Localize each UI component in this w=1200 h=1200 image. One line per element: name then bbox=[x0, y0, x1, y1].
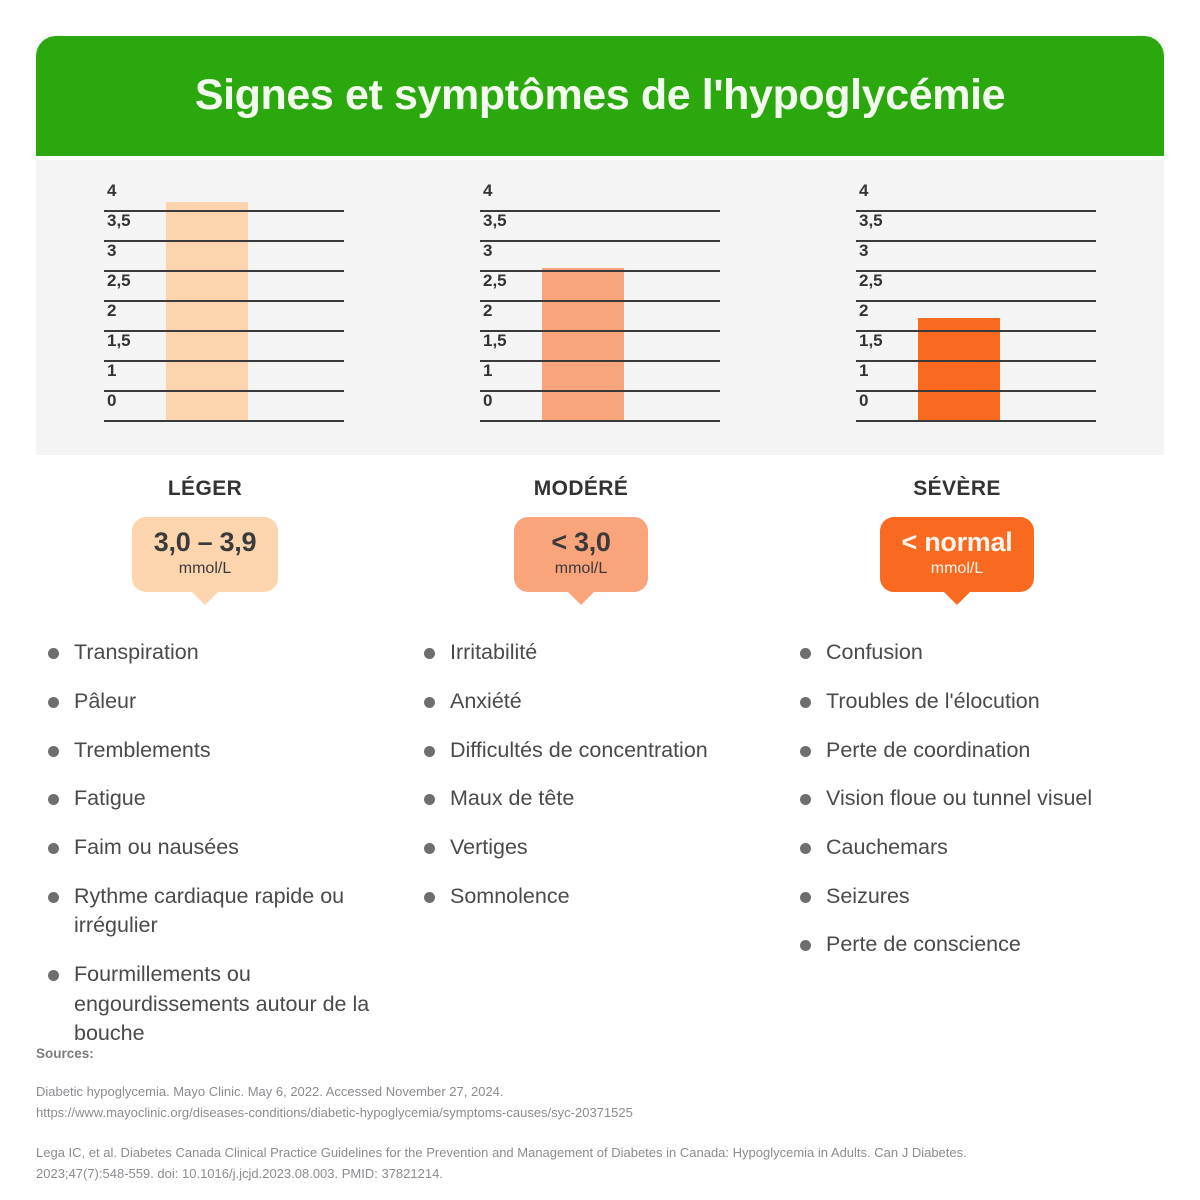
bullet-icon bbox=[48, 794, 59, 805]
list-item: Fourmillements ou engourdissements autou… bbox=[48, 960, 400, 1049]
list-item: Cauchemars bbox=[800, 833, 1152, 863]
list-item: Faim ou nausées bbox=[48, 833, 400, 863]
bullet-icon bbox=[800, 940, 811, 951]
symptom-text: Perte de conscience bbox=[826, 930, 1021, 960]
gauge-tick-label: 0 bbox=[856, 392, 868, 409]
bullet-icon bbox=[48, 746, 59, 757]
bullet-icon bbox=[800, 746, 811, 757]
symptom-text: Maux de tête bbox=[450, 784, 574, 814]
list-item: Transpiration bbox=[48, 638, 400, 668]
bullet-icon bbox=[800, 892, 811, 903]
gauge-tick-label: 2 bbox=[104, 302, 116, 319]
symptom-text: Difficultés de concentration bbox=[450, 736, 708, 766]
gauge-tick-label: 1 bbox=[856, 362, 868, 379]
symptom-text: Anxiété bbox=[450, 687, 522, 717]
bullet-icon bbox=[48, 970, 59, 981]
gauge-tick-label: 4 bbox=[856, 182, 868, 199]
gauge-chart: 43,532,521,510 bbox=[856, 182, 1096, 422]
badge-pointer-icon bbox=[568, 592, 594, 605]
gauge-tick-label: 2 bbox=[480, 302, 492, 319]
sources-heading: Sources: bbox=[36, 1046, 1156, 1061]
gauge-tick-label: 4 bbox=[104, 182, 116, 199]
glucose-range-badge: < 3,0mmol/L bbox=[514, 517, 648, 592]
gauge-tick-line bbox=[104, 210, 344, 212]
symptom-text: Cauchemars bbox=[826, 833, 948, 863]
glucose-range-badge: < normalmmol/L bbox=[880, 517, 1035, 592]
badge-wrapper: < normalmmol/L bbox=[762, 517, 1152, 592]
gauge-tick-line bbox=[480, 300, 720, 302]
gauge-tick-line bbox=[856, 360, 1096, 362]
symptom-text: Irritabilité bbox=[450, 638, 537, 668]
gauge-tick-line bbox=[104, 300, 344, 302]
gauge-tick-line bbox=[856, 270, 1096, 272]
badge-unit: mmol/L bbox=[536, 559, 626, 580]
gauge-tick-label: 3 bbox=[856, 242, 868, 259]
gauge-tick-line bbox=[480, 420, 720, 422]
bullet-icon bbox=[48, 648, 59, 659]
list-item: Seizures bbox=[800, 882, 1152, 912]
list-item: Tremblements bbox=[48, 736, 400, 766]
severity-label: LÉGER bbox=[10, 477, 400, 501]
badge-value: < 3,0 bbox=[536, 528, 626, 558]
symptom-text: Tremblements bbox=[74, 736, 211, 766]
badge-value: 3,0 – 3,9 bbox=[154, 528, 256, 558]
severity-columns: LÉGER3,0 – 3,9mmol/LTranspirationPâleurT… bbox=[36, 455, 1164, 1068]
list-item: Irritabilité bbox=[424, 638, 776, 668]
gauge-tick-row: 3,5 bbox=[480, 212, 720, 242]
badge-unit: mmol/L bbox=[154, 559, 256, 580]
symptom-text: Transpiration bbox=[74, 638, 199, 668]
severity-column-sévère: SÉVÈRE< normalmmol/LConfusionTroubles de… bbox=[788, 455, 1164, 1068]
symptom-text: Vision floue ou tunnel visuel bbox=[826, 784, 1092, 814]
gauge-tick-label: 3 bbox=[104, 242, 116, 259]
source-line: https://www.mayoclinic.org/diseases-cond… bbox=[36, 1102, 1156, 1123]
severity-label: SÉVÈRE bbox=[762, 477, 1152, 501]
gauge-tick-row: 4 bbox=[480, 182, 720, 212]
bullet-icon bbox=[800, 648, 811, 659]
gauge-tick-label: 2,5 bbox=[856, 272, 883, 289]
list-item: Rythme cardiaque rapide ou irrégulier bbox=[48, 882, 400, 941]
symptom-text: Perte de coordination bbox=[826, 736, 1030, 766]
list-item: Fatigue bbox=[48, 784, 400, 814]
symptom-text: Seizures bbox=[826, 882, 910, 912]
gauge-tick-label: 3 bbox=[480, 242, 492, 259]
symptom-text: Confusion bbox=[826, 638, 923, 668]
chart-panel: 43,532,521,51043,532,521,51043,532,521,5… bbox=[36, 160, 1164, 455]
symptom-text: Rythme cardiaque rapide ou irrégulier bbox=[74, 882, 374, 941]
gauge-tick-line bbox=[856, 210, 1096, 212]
header-bar: Signes et symptômes de l'hypoglycémie bbox=[36, 36, 1164, 156]
gauge-bar bbox=[918, 318, 1000, 422]
gauge-tick-line bbox=[104, 360, 344, 362]
gauge-bar bbox=[166, 202, 248, 422]
gauge-tick-label: 1,5 bbox=[104, 332, 131, 349]
symptom-text: Fourmillements ou engourdissements autou… bbox=[74, 960, 374, 1049]
list-item: Somnolence bbox=[424, 882, 776, 912]
source-citation: Lega IC, et al. Diabetes Canada Clinical… bbox=[36, 1142, 1156, 1185]
symptom-list: ConfusionTroubles de l'élocutionPerte de… bbox=[800, 638, 1152, 960]
symptom-text: Fatigue bbox=[74, 784, 146, 814]
gauge-tick-label: 0 bbox=[480, 392, 492, 409]
gauge-tick-label: 2,5 bbox=[104, 272, 131, 289]
bullet-icon bbox=[48, 892, 59, 903]
gauge-tick-label: 1,5 bbox=[856, 332, 883, 349]
gauge-tick-line bbox=[480, 270, 720, 272]
symptom-text: Vertiges bbox=[450, 833, 528, 863]
gauge-chart: 43,532,521,510 bbox=[480, 182, 720, 422]
symptom-list: IrritabilitéAnxiétéDifficultés de concen… bbox=[424, 638, 776, 911]
severity-column-léger: LÉGER3,0 – 3,9mmol/LTranspirationPâleurT… bbox=[36, 455, 412, 1068]
bullet-icon bbox=[48, 697, 59, 708]
gauge-tick-row: 2,5 bbox=[856, 272, 1096, 302]
gauge-tick-label: 3,5 bbox=[104, 212, 131, 229]
gauge-tick-line bbox=[104, 270, 344, 272]
gauge-tick-label: 2,5 bbox=[480, 272, 507, 289]
gauge-tick-line bbox=[104, 240, 344, 242]
glucose-range-badge: 3,0 – 3,9mmol/L bbox=[132, 517, 278, 592]
gauge-tick-label: 1 bbox=[480, 362, 492, 379]
badge-value: < normal bbox=[902, 528, 1013, 558]
gauge-bar bbox=[542, 268, 624, 422]
symptom-text: Troubles de l'élocution bbox=[826, 687, 1040, 717]
gauge-tick-line bbox=[856, 300, 1096, 302]
gauge-tick-label: 2 bbox=[856, 302, 868, 319]
bullet-icon bbox=[424, 843, 435, 854]
gauge-tick-line bbox=[856, 240, 1096, 242]
list-item: Pâleur bbox=[48, 687, 400, 717]
gauge-tick-label: 4 bbox=[480, 182, 492, 199]
source-citation: Diabetic hypoglycemia. Mayo Clinic. May … bbox=[36, 1081, 1156, 1124]
badge-pointer-icon bbox=[944, 592, 970, 605]
gauge-cell-modéré: 43,532,521,510 bbox=[412, 160, 788, 455]
list-item: Perte de conscience bbox=[800, 930, 1152, 960]
gauge-tick-line bbox=[480, 360, 720, 362]
gauge-tick-label: 0 bbox=[104, 392, 116, 409]
page-title: Signes et symptômes de l'hypoglycémie bbox=[195, 72, 1005, 119]
bullet-icon bbox=[424, 697, 435, 708]
bullet-icon bbox=[800, 843, 811, 854]
gauge-tick-line bbox=[104, 420, 344, 422]
list-item: Vertiges bbox=[424, 833, 776, 863]
list-item: Troubles de l'élocution bbox=[800, 687, 1152, 717]
list-item: Confusion bbox=[800, 638, 1152, 668]
gauge-tick-line bbox=[104, 390, 344, 392]
gauge-cell-léger: 43,532,521,510 bbox=[36, 160, 412, 455]
severity-column-modéré: MODÉRÉ< 3,0mmol/LIrritabilitéAnxiétéDiff… bbox=[412, 455, 788, 1068]
bullet-icon bbox=[424, 794, 435, 805]
gauge-tick-line bbox=[104, 330, 344, 332]
gauge-tick-row: 3,5 bbox=[856, 212, 1096, 242]
list-item: Vision floue ou tunnel visuel bbox=[800, 784, 1152, 814]
badge-unit: mmol/L bbox=[902, 559, 1013, 580]
gauge-tick-line bbox=[856, 330, 1096, 332]
gauge-cell-sévère: 43,532,521,510 bbox=[788, 160, 1164, 455]
list-item: Difficultés de concentration bbox=[424, 736, 776, 766]
gauge-tick-line bbox=[480, 390, 720, 392]
gauge-tick-line bbox=[856, 420, 1096, 422]
gauge-tick-line bbox=[856, 390, 1096, 392]
bullet-icon bbox=[424, 648, 435, 659]
gauge-tick-label: 3,5 bbox=[856, 212, 883, 229]
gauge-tick-line bbox=[480, 330, 720, 332]
gauge-tick-label: 1 bbox=[104, 362, 116, 379]
gauge-tick-line bbox=[480, 210, 720, 212]
infographic-root: Signes et symptômes de l'hypoglycémie 43… bbox=[0, 0, 1200, 1200]
gauge-chart: 43,532,521,510 bbox=[104, 182, 344, 422]
bullet-icon bbox=[48, 843, 59, 854]
gauge-tick-row: 3 bbox=[856, 242, 1096, 272]
source-line: Diabetic hypoglycemia. Mayo Clinic. May … bbox=[36, 1081, 1156, 1102]
source-line: Lega IC, et al. Diabetes Canada Clinical… bbox=[36, 1142, 1156, 1163]
gauge-tick-label: 3,5 bbox=[480, 212, 507, 229]
badge-wrapper: < 3,0mmol/L bbox=[386, 517, 776, 592]
badge-pointer-icon bbox=[192, 592, 218, 605]
bullet-icon bbox=[424, 892, 435, 903]
bullet-icon bbox=[800, 794, 811, 805]
list-item: Anxiété bbox=[424, 687, 776, 717]
list-item: Maux de tête bbox=[424, 784, 776, 814]
bullet-icon bbox=[424, 746, 435, 757]
symptom-text: Faim ou nausées bbox=[74, 833, 239, 863]
source-line: 2023;47(7):548-559. doi: 10.1016/j.jcjd.… bbox=[36, 1163, 1156, 1184]
badge-wrapper: 3,0 – 3,9mmol/L bbox=[10, 517, 400, 592]
list-item: Perte de coordination bbox=[800, 736, 1152, 766]
symptom-list: TranspirationPâleurTremblementsFatigueFa… bbox=[48, 638, 400, 1049]
severity-label: MODÉRÉ bbox=[386, 477, 776, 501]
symptom-text: Pâleur bbox=[74, 687, 136, 717]
gauge-tick-line bbox=[480, 240, 720, 242]
symptom-text: Somnolence bbox=[450, 882, 570, 912]
sources-section: Sources: Diabetic hypoglycemia. Mayo Cli… bbox=[36, 1046, 1156, 1200]
bullet-icon bbox=[800, 697, 811, 708]
gauge-tick-label: 1,5 bbox=[480, 332, 507, 349]
gauge-tick-row: 4 bbox=[856, 182, 1096, 212]
